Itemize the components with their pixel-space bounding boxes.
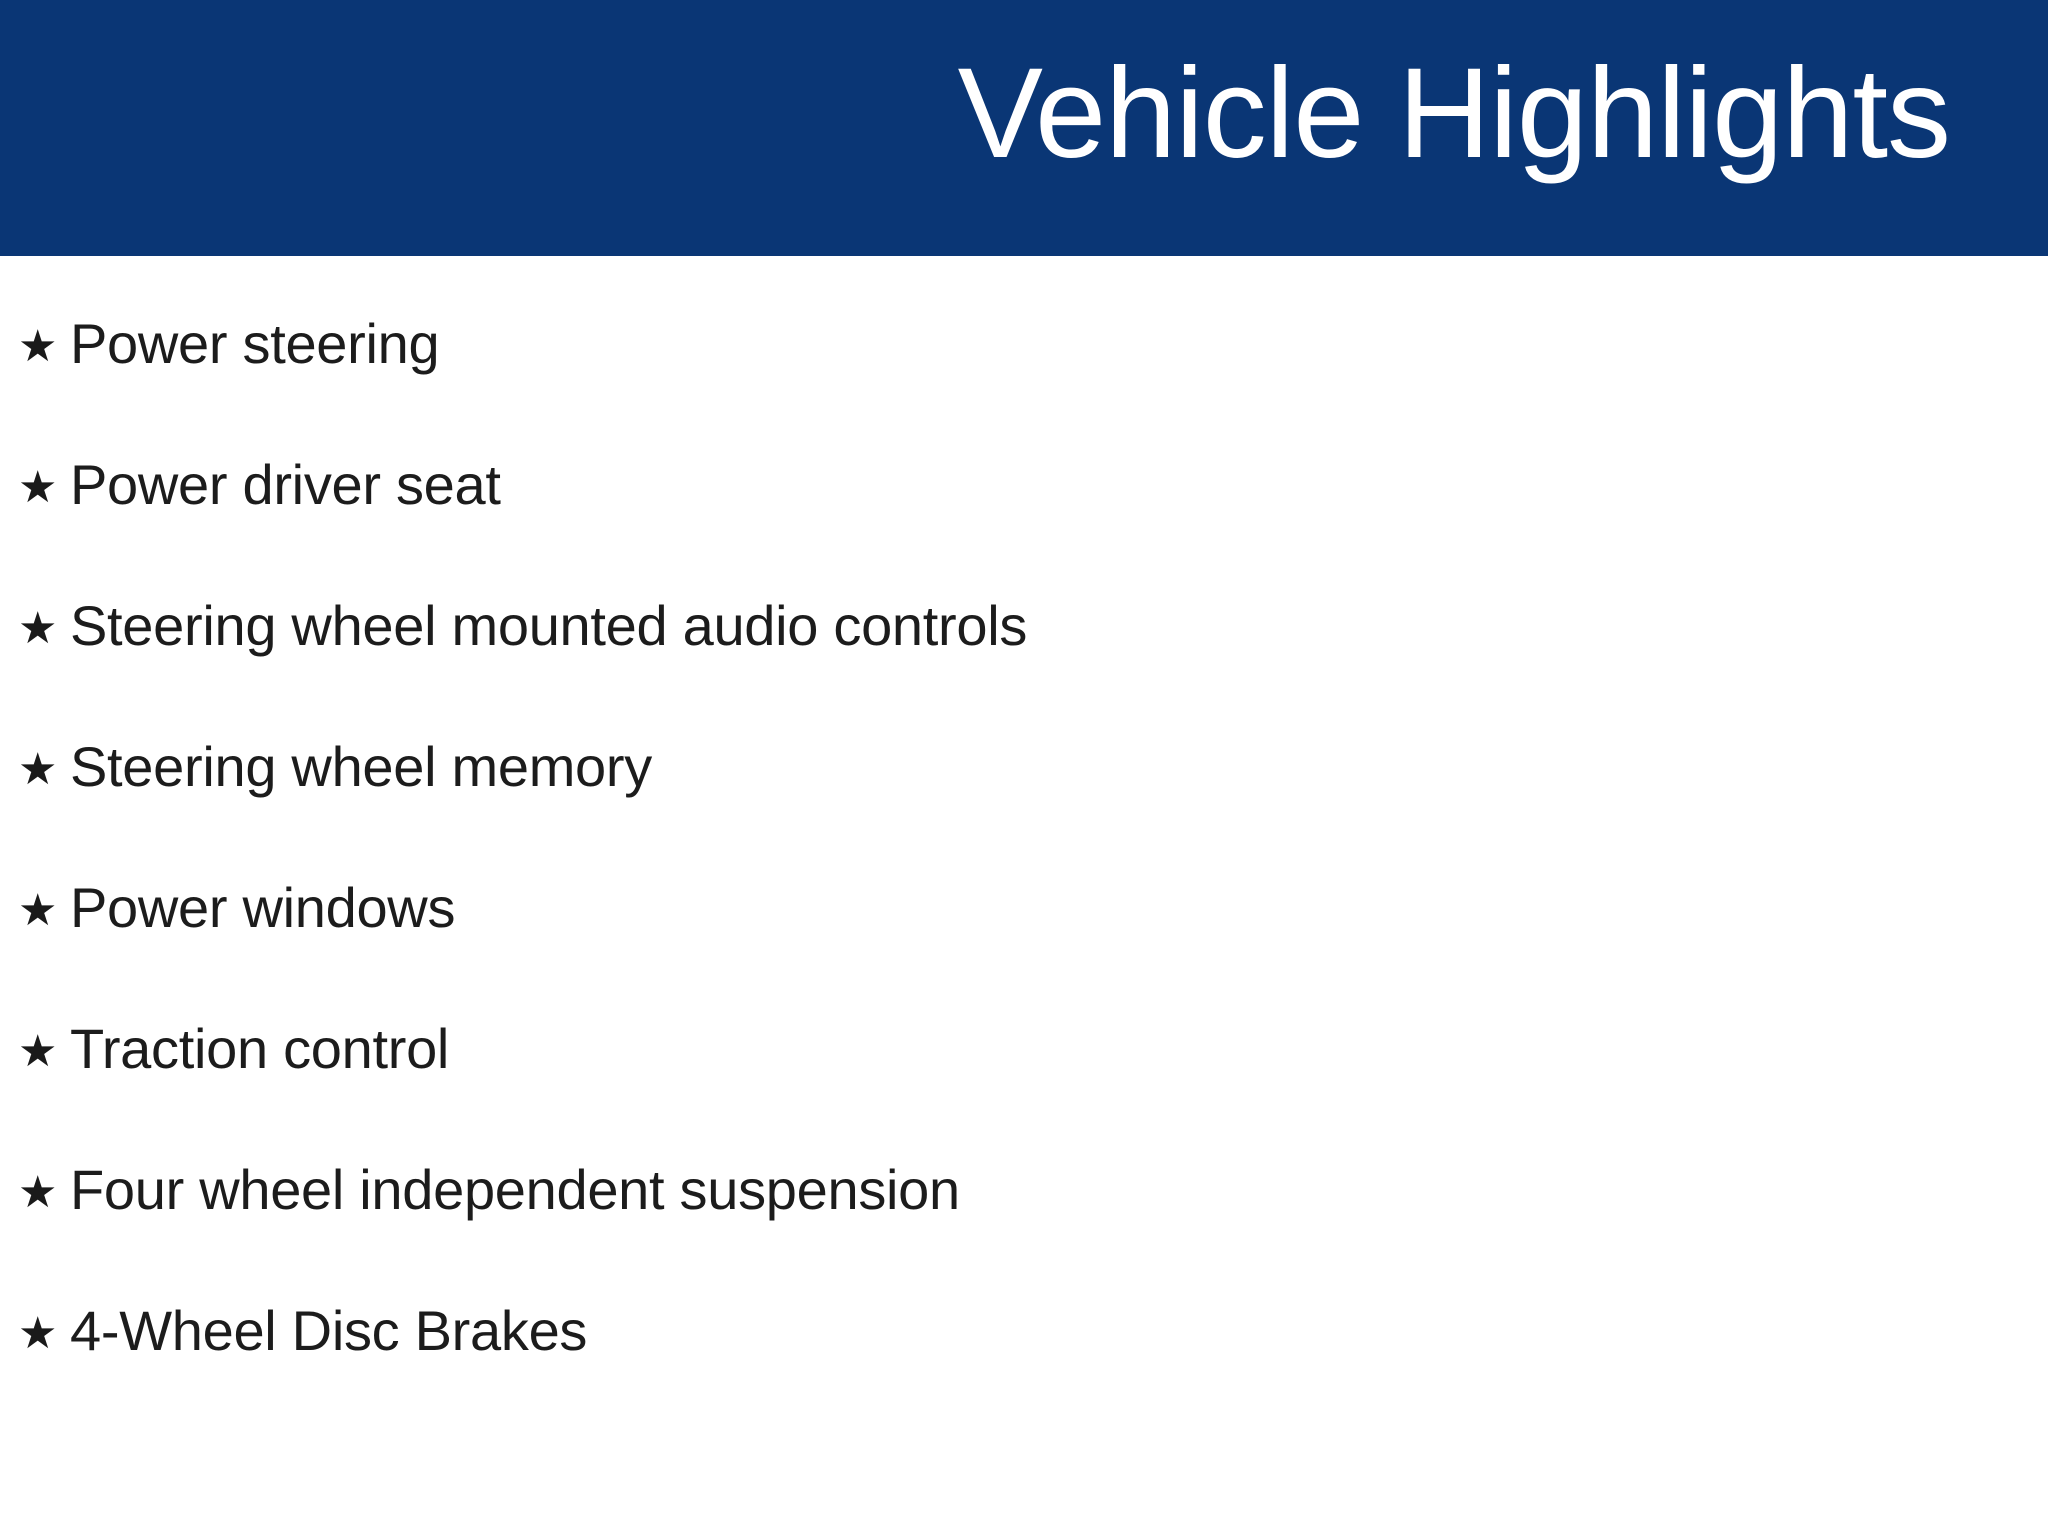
list-item-label: Steering wheel mounted audio controls bbox=[70, 598, 1027, 654]
star-bullet-icon: ★ bbox=[18, 325, 70, 369]
list-item: ★ Four wheel independent suspension bbox=[18, 1162, 960, 1232]
vehicle-highlights-list: ★ Power steering ★ Power driver seat ★ S… bbox=[0, 256, 2048, 1536]
star-bullet-icon: ★ bbox=[18, 466, 70, 510]
list-item: ★ Steering wheel mounted audio controls bbox=[18, 598, 1027, 668]
list-item: ★ Power steering bbox=[18, 316, 439, 386]
star-bullet-icon: ★ bbox=[18, 607, 70, 651]
star-bullet-icon: ★ bbox=[18, 1171, 70, 1215]
list-item-label: Power windows bbox=[70, 880, 455, 936]
star-bullet-icon: ★ bbox=[18, 1312, 70, 1356]
list-item: ★ Power driver seat bbox=[18, 457, 501, 527]
list-item: ★ Traction control bbox=[18, 1021, 449, 1091]
star-bullet-icon: ★ bbox=[18, 889, 70, 933]
header-banner: Vehicle Highlights bbox=[0, 0, 2048, 256]
list-item: ★ Steering wheel memory bbox=[18, 739, 652, 809]
list-item: ★ 4-Wheel Disc Brakes bbox=[18, 1303, 587, 1373]
vehicle-highlights-slide: Vehicle Highlights ★ Power steering ★ Po… bbox=[0, 0, 2048, 1536]
list-item: ★ Power windows bbox=[18, 880, 455, 950]
list-item-label: Four wheel independent suspension bbox=[70, 1162, 960, 1218]
star-bullet-icon: ★ bbox=[18, 1030, 70, 1074]
list-item-label: Steering wheel memory bbox=[70, 739, 652, 795]
list-item-label: Traction control bbox=[70, 1021, 449, 1077]
list-item-label: Power steering bbox=[70, 316, 439, 372]
list-item-label: Power driver seat bbox=[70, 457, 501, 513]
star-bullet-icon: ★ bbox=[18, 748, 70, 792]
page-title: Vehicle Highlights bbox=[958, 50, 1950, 178]
list-item-label: 4-Wheel Disc Brakes bbox=[70, 1303, 587, 1359]
